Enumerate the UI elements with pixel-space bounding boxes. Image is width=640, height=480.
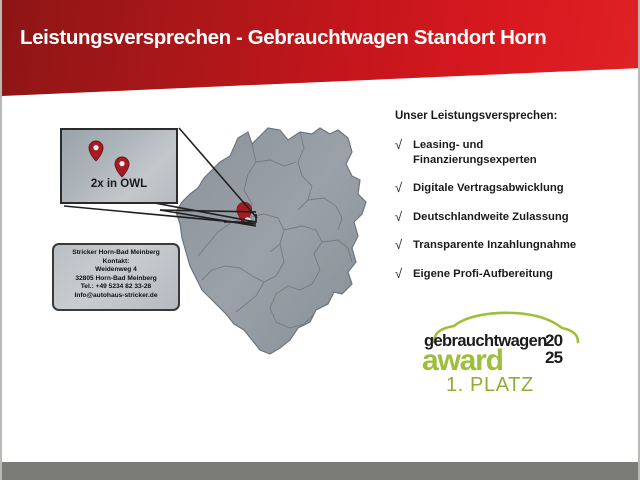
contact-phone: Tel.: +49 5234 82 33-28	[54, 283, 178, 292]
promises-heading: Unser Leistungsversprechen:	[395, 110, 635, 122]
promises-section: Unser Leistungsversprechen: √ Leasing- u…	[395, 110, 635, 295]
page-title: Leistungsversprechen - Gebrauchtwagen St…	[20, 26, 630, 50]
contact-kontakt-label: Kontakt:	[54, 258, 178, 267]
map-outline	[176, 128, 366, 354]
germany-map-svg	[152, 118, 382, 388]
owl-inset-label: 2x in OWL	[62, 178, 176, 190]
award-word-main: award	[422, 344, 503, 378]
contact-info-box: Stricker Horn-Bad Meinberg Kontakt: Weid…	[52, 243, 180, 311]
promise-label: Digitale Vertragsabwicklung	[413, 181, 564, 196]
germany-map-graphic	[152, 118, 382, 388]
map-pin-icon-1	[88, 140, 104, 162]
brand-strip: Horn Nutzfahrzeuge Service SKODA Service	[2, 400, 640, 462]
award-logo: gebrauchtwagen award 2025 1. PLATZ	[420, 308, 595, 398]
promise-item: √ Eigene Profi-Aufbereitung	[395, 267, 635, 282]
check-icon: √	[395, 210, 413, 224]
contact-email: Info@autohaus-stricker.de	[54, 292, 178, 301]
promise-label: Deutschlandweite Zulassung	[413, 210, 569, 225]
promise-item: √ Transparente Inzahlungnahme	[395, 238, 635, 253]
award-year: 2025	[545, 332, 577, 366]
owl-inset-box: 2x in OWL	[60, 128, 178, 204]
promise-item: √ Deutschlandweite Zulassung	[395, 210, 635, 225]
contact-street: Weidenweg 4	[54, 266, 178, 275]
check-icon: √	[395, 138, 413, 152]
slide-canvas: Leistungsversprechen - Gebrauchtwagen St…	[0, 0, 640, 480]
map-pin-icon-2	[114, 156, 130, 178]
check-icon: √	[395, 267, 413, 281]
check-icon: √	[395, 181, 413, 195]
promise-label: Leasing- und Finanzierungsexperten	[413, 138, 537, 167]
promise-label: Transparente Inzahlungnahme	[413, 238, 576, 253]
contact-city: 32805 Horn-Bad Meinberg	[54, 275, 178, 284]
promise-item: √ Leasing- und Finanzierungsexperten	[395, 138, 635, 167]
promise-item: √ Digitale Vertragsabwicklung	[395, 181, 635, 196]
award-rank: 1. PLATZ	[446, 374, 534, 397]
check-icon: √	[395, 238, 413, 252]
contact-name: Stricker Horn-Bad Meinberg	[54, 249, 178, 258]
promise-label: Eigene Profi-Aufbereitung	[413, 267, 553, 282]
footer-bar	[2, 462, 640, 480]
